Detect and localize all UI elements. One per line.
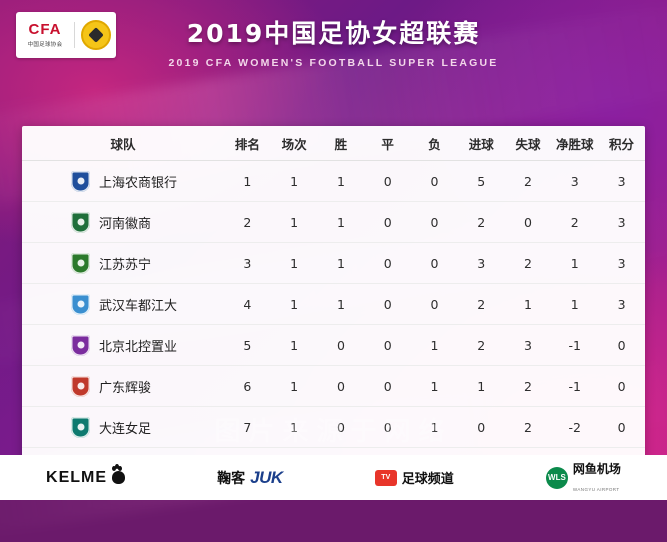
cell-draw: 0: [364, 325, 411, 366]
title-block: 2019中国足协女超联赛 2019 CFA WOMEN'S FOOTBALL S…: [0, 14, 667, 69]
cell-team: 大连女足: [22, 407, 224, 448]
cell-team: 江苏苏宁: [22, 243, 224, 284]
sponsor-football-channel: TV 足球频道: [375, 468, 454, 487]
standings-table: 球队 排名 场次 胜 平 负 进球 失球 净胜球 积分 上海农商银行111005…: [22, 126, 645, 488]
cell-played: 1: [271, 325, 318, 366]
standings-table-card: 球队 排名 场次 胜 平 负 进球 失球 净胜球 积分 上海农商银行111005…: [22, 126, 645, 488]
cell-team: 武汉车都江大: [22, 284, 224, 325]
cell-win: 1: [318, 243, 365, 284]
cell-goal-diff: 3: [551, 161, 598, 202]
cell-win: 1: [318, 161, 365, 202]
page-title: 2019中国足协女超联赛: [0, 14, 667, 50]
cell-goal-diff: -1: [551, 366, 598, 407]
team-name: 河南徽商: [99, 213, 151, 232]
cell-loss: 0: [411, 284, 458, 325]
table-header-row: 球队 排名 场次 胜 平 负 进球 失球 净胜球 积分: [22, 126, 645, 161]
table-row: 广东辉骏6100112-10: [22, 366, 645, 407]
table-body: 上海农商银行111005233河南徽商211002023江苏苏宁31100321…: [22, 161, 645, 489]
table-header: 球队 排名 场次 胜 平 负 进球 失球 净胜球 积分: [22, 126, 645, 161]
team-name: 广东辉骏: [99, 377, 151, 396]
column-header-goal-diff: 净胜球: [551, 126, 598, 161]
team-cell: 江苏苏宁: [23, 253, 223, 274]
sponsor-wls-label: 网鱼机场: [573, 462, 621, 476]
cell-goals-for: 0: [458, 407, 505, 448]
column-header-played: 场次: [271, 126, 318, 161]
cell-draw: 0: [364, 284, 411, 325]
cell-win: 0: [318, 366, 365, 407]
cell-loss: 1: [411, 325, 458, 366]
table-row: 武汉车都江大411002113: [22, 284, 645, 325]
team-name: 江苏苏宁: [99, 254, 151, 273]
cell-rank: 1: [224, 161, 271, 202]
sponsor-kelme-label: KELME: [46, 469, 107, 487]
cell-rank: 5: [224, 325, 271, 366]
cell-goals-against: 2: [505, 366, 552, 407]
cell-goals-for: 2: [458, 325, 505, 366]
team-crest-icon: [71, 171, 90, 192]
cell-points: 0: [598, 407, 645, 448]
table-row: 北京北控置业5100123-10: [22, 325, 645, 366]
cell-points: 3: [598, 243, 645, 284]
cell-draw: 0: [364, 243, 411, 284]
cell-goals-against: 2: [505, 243, 552, 284]
team-crest-icon: [71, 294, 90, 315]
cell-rank: 7: [224, 407, 271, 448]
cell-team: 北京北控置业: [22, 325, 224, 366]
cell-win: 0: [318, 325, 365, 366]
column-header-points: 积分: [598, 126, 645, 161]
sponsor-juk: 鞠客 JUK: [217, 468, 283, 488]
cell-goals-for: 3: [458, 243, 505, 284]
column-header-rank: 排名: [224, 126, 271, 161]
cell-points: 0: [598, 366, 645, 407]
cell-loss: 0: [411, 161, 458, 202]
team-crest-icon: [71, 253, 90, 274]
team-cell: 河南徽商: [23, 212, 223, 233]
page-header: CFA 中国足球协会 2019中国足协女超联赛 2019 CFA WOMEN'S…: [0, 0, 667, 88]
table-row: 江苏苏宁311003213: [22, 243, 645, 284]
cell-goals-for: 2: [458, 284, 505, 325]
team-name: 上海农商银行: [99, 172, 177, 191]
table-row: 大连女足7100102-20: [22, 407, 645, 448]
team-crest-icon: [71, 376, 90, 397]
cell-points: 0: [598, 325, 645, 366]
team-cell: 武汉车都江大: [23, 294, 223, 315]
sponsor-wls-sublabel: WANGYU AIRPORT: [573, 487, 620, 492]
sponsor-kelme: KELME: [46, 469, 125, 487]
table-row: 上海农商银行111005233: [22, 161, 645, 202]
cell-goal-diff: 1: [551, 284, 598, 325]
column-header-win: 胜: [318, 126, 365, 161]
cell-rank: 6: [224, 366, 271, 407]
cell-played: 1: [271, 202, 318, 243]
cell-win: 1: [318, 284, 365, 325]
wls-logo-icon: WLS: [546, 467, 568, 489]
cell-loss: 1: [411, 407, 458, 448]
cell-draw: 0: [364, 202, 411, 243]
team-name: 大连女足: [99, 418, 151, 437]
cell-team: 广东辉骏: [22, 366, 224, 407]
cell-loss: 0: [411, 202, 458, 243]
cell-win: 0: [318, 407, 365, 448]
paw-icon: [112, 471, 125, 484]
cell-points: 3: [598, 161, 645, 202]
cell-goals-for: 1: [458, 366, 505, 407]
cell-goals-against: 3: [505, 325, 552, 366]
cell-goals-against: 2: [505, 407, 552, 448]
cell-played: 1: [271, 284, 318, 325]
cell-goal-diff: -1: [551, 325, 598, 366]
cell-rank: 4: [224, 284, 271, 325]
column-header-goals-for: 进球: [458, 126, 505, 161]
cell-goal-diff: 1: [551, 243, 598, 284]
cell-played: 1: [271, 366, 318, 407]
team-cell: 大连女足: [23, 417, 223, 438]
cell-played: 1: [271, 161, 318, 202]
sponsor-wls: WLS 网鱼机场 WANGYU AIRPORT: [546, 460, 621, 496]
column-header-team: 球队: [22, 126, 224, 161]
page-title-english: 2019 CFA WOMEN'S FOOTBALL SUPER LEAGUE: [0, 57, 667, 69]
cell-goals-against: 0: [505, 202, 552, 243]
team-crest-icon: [71, 417, 90, 438]
sponsor-juk-label-cn: 鞠客: [217, 468, 245, 488]
team-name: 武汉车都江大: [99, 295, 177, 314]
cell-goals-for: 2: [458, 202, 505, 243]
team-cell: 广东辉骏: [23, 376, 223, 397]
cell-points: 3: [598, 284, 645, 325]
cell-goals-against: 1: [505, 284, 552, 325]
cell-rank: 2: [224, 202, 271, 243]
sponsor-footer: KELME 鞠客 JUK TV 足球频道 WLS 网鱼机场 WANGYU AIR…: [0, 455, 667, 500]
cell-draw: 0: [364, 407, 411, 448]
cell-goals-against: 2: [505, 161, 552, 202]
team-cell: 北京北控置业: [23, 335, 223, 356]
cell-draw: 0: [364, 161, 411, 202]
cell-goals-for: 5: [458, 161, 505, 202]
cell-played: 1: [271, 407, 318, 448]
tv-icon: TV: [375, 470, 397, 486]
team-crest-icon: [71, 212, 90, 233]
cell-win: 1: [318, 202, 365, 243]
column-header-loss: 负: [411, 126, 458, 161]
column-header-draw: 平: [364, 126, 411, 161]
cell-team: 河南徽商: [22, 202, 224, 243]
cell-goal-diff: 2: [551, 202, 598, 243]
cell-goal-diff: -2: [551, 407, 598, 448]
cell-loss: 1: [411, 366, 458, 407]
team-name: 北京北控置业: [99, 336, 177, 355]
cell-team: 上海农商银行: [22, 161, 224, 202]
table-row: 河南徽商211002023: [22, 202, 645, 243]
sponsor-juk-label: JUK: [250, 468, 283, 488]
team-cell: 上海农商银行: [23, 171, 223, 192]
cell-rank: 3: [224, 243, 271, 284]
team-crest-icon: [71, 335, 90, 356]
sponsor-football-channel-label: 足球频道: [402, 468, 454, 487]
cell-played: 1: [271, 243, 318, 284]
cell-points: 3: [598, 202, 645, 243]
column-header-goals-against: 失球: [505, 126, 552, 161]
cell-draw: 0: [364, 366, 411, 407]
cell-loss: 0: [411, 243, 458, 284]
